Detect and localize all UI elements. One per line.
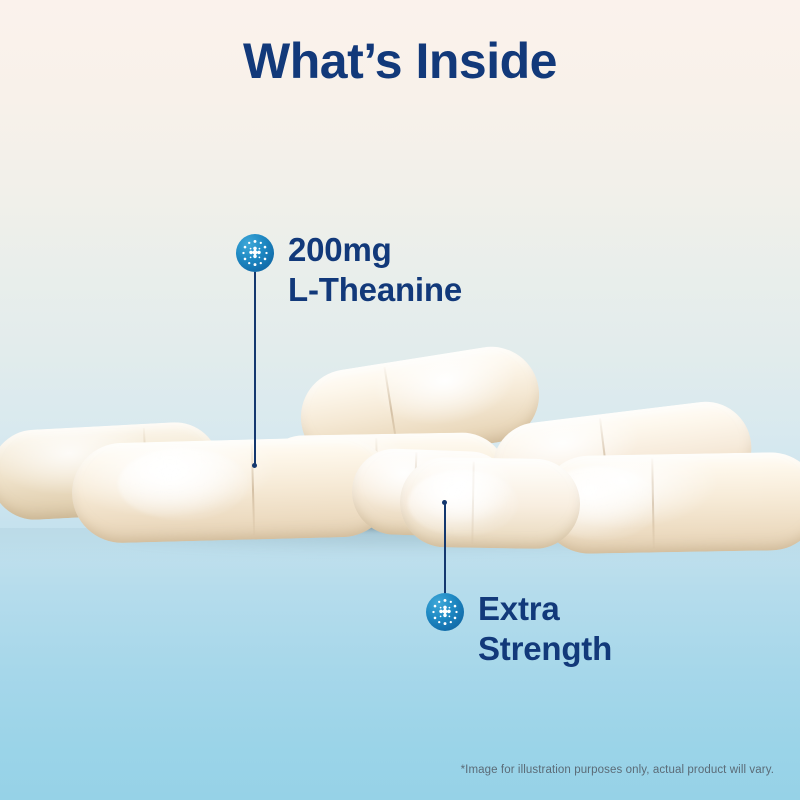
product-feature-card: What’s Inside: [0, 0, 800, 800]
page-title: What’s Inside: [0, 34, 800, 89]
callout-pointer-dot-dose: [252, 463, 257, 468]
molecule-cluster-icon: [236, 234, 274, 272]
disclaimer-text: *Image for illustration purposes only, a…: [461, 764, 774, 776]
callout-pointer-line-strength: [444, 502, 446, 594]
callout-pointer-dot-strength: [442, 500, 447, 505]
callout-label-dose: 200mg L-Theanine: [288, 230, 462, 311]
callout-label-strength: Extra Strength: [478, 589, 612, 670]
molecule-cluster-icon: [426, 593, 464, 631]
capsule-product-image: [0, 330, 800, 560]
callout-pointer-line-dose: [254, 272, 256, 466]
capsule-highlight: [408, 470, 518, 536]
capsule-highlight: [118, 448, 248, 520]
